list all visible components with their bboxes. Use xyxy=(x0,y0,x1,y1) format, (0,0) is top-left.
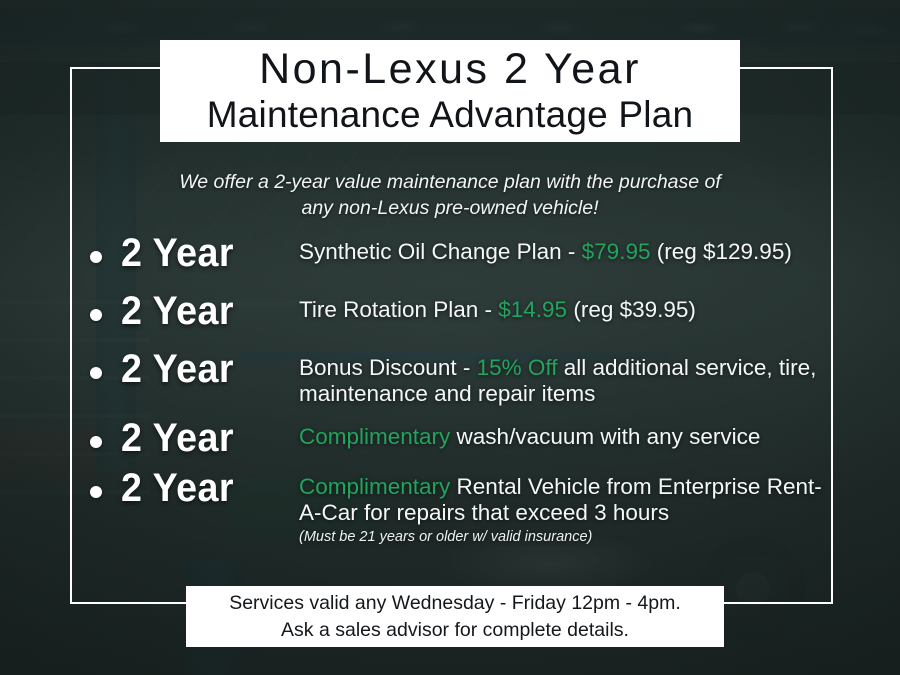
list-item: 2 Year Complimentary Rental Vehicle from… xyxy=(90,468,830,547)
bullet-dot-icon xyxy=(90,436,102,448)
benefit-description: Complimentary Rental Vehicle from Enterp… xyxy=(299,468,830,547)
benefit-fineprint: (Must be 21 years or older w/ valid insu… xyxy=(299,528,830,546)
benefit-text-before: Synthetic Oil Change Plan - xyxy=(299,239,582,264)
promotional-poster: Non-Lexus 2 Year Maintenance Advantage P… xyxy=(0,0,900,675)
benefit-description: Synthetic Oil Change Plan - $79.95 (reg … xyxy=(299,233,830,265)
bullet-dot-icon xyxy=(90,486,102,498)
bullet-dot-icon xyxy=(90,367,102,379)
benefit-accent-value: $79.95 xyxy=(582,239,651,264)
list-item: 2 Year Bonus Discount - 15% Off all addi… xyxy=(90,349,830,408)
benefit-accent-value: Complimentary xyxy=(299,424,450,449)
subtitle: We offer a 2-year value maintenance plan… xyxy=(110,170,790,222)
benefit-accent-value: 15% Off xyxy=(477,355,558,380)
title-panel: Non-Lexus 2 Year Maintenance Advantage P… xyxy=(160,40,740,142)
benefits-list: 2 Year Synthetic Oil Change Plan - $79.9… xyxy=(90,233,830,546)
benefit-term: 2 Year xyxy=(121,349,288,389)
benefit-text-before: Bonus Discount - xyxy=(299,355,477,380)
benefit-text-before: Tire Rotation Plan - xyxy=(299,297,498,322)
subtitle-line-1: We offer a 2-year value maintenance plan… xyxy=(110,170,790,196)
benefit-term: 2 Year xyxy=(121,291,288,331)
benefit-text-after: (reg $129.95) xyxy=(650,239,791,264)
page-title-line-1: Non-Lexus 2 Year xyxy=(259,48,641,91)
benefit-term: 2 Year xyxy=(121,418,288,458)
benefit-accent-value: Complimentary xyxy=(299,474,450,499)
footer-line-1: Services valid any Wednesday - Friday 12… xyxy=(229,590,681,617)
benefit-term: 2 Year xyxy=(121,468,288,508)
list-item: 2 Year Tire Rotation Plan - $14.95 (reg … xyxy=(90,291,830,331)
footer-panel: Services valid any Wednesday - Friday 12… xyxy=(186,586,724,647)
benefit-text-after: wash/vacuum with any service xyxy=(450,424,760,449)
list-item: 2 Year Synthetic Oil Change Plan - $79.9… xyxy=(90,233,830,273)
benefit-description: Tire Rotation Plan - $14.95 (reg $39.95) xyxy=(299,291,830,323)
benefit-term: 2 Year xyxy=(121,233,288,273)
benefit-text-after: (reg $39.95) xyxy=(567,297,696,322)
benefit-accent-value: $14.95 xyxy=(498,297,567,322)
list-item: 2 Year Complimentary wash/vacuum with an… xyxy=(90,418,830,458)
bullet-dot-icon xyxy=(90,309,102,321)
benefit-description: Complimentary wash/vacuum with any servi… xyxy=(299,418,830,450)
bullet-dot-icon xyxy=(90,251,102,263)
benefit-description: Bonus Discount - 15% Off all additional … xyxy=(299,349,830,408)
footer-line-2: Ask a sales advisor for complete details… xyxy=(281,617,629,644)
subtitle-line-2: any non-Lexus pre-owned vehicle! xyxy=(110,196,790,222)
page-title-line-2: Maintenance Advantage Plan xyxy=(207,95,694,135)
